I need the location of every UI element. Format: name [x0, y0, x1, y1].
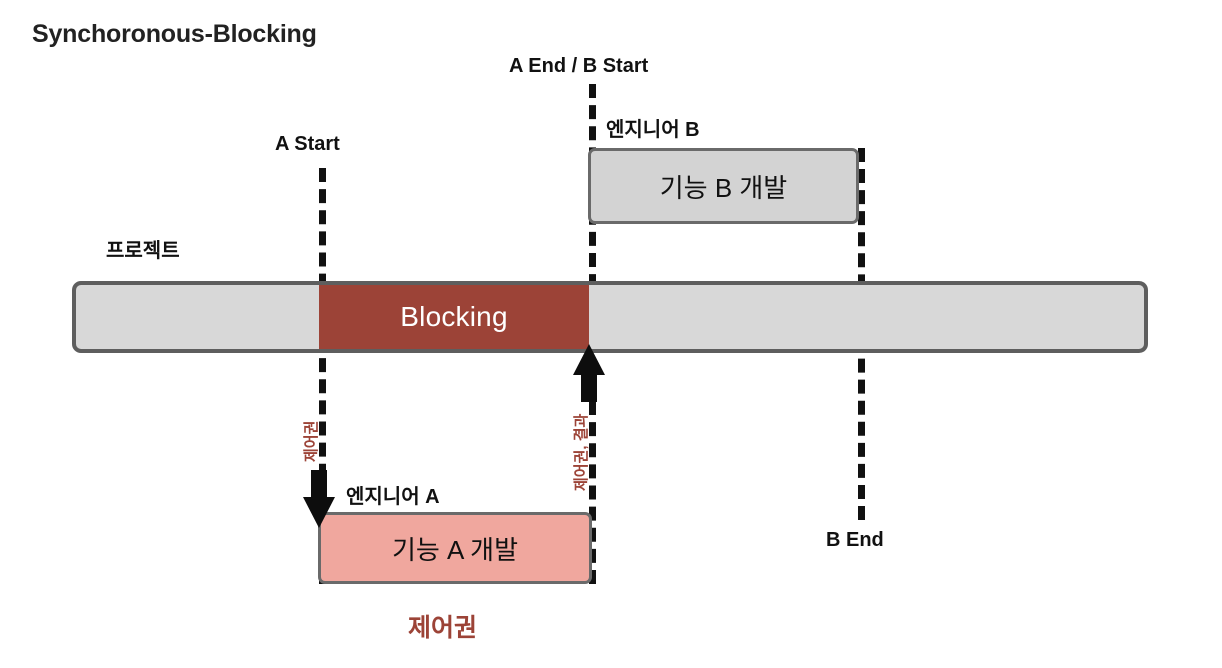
- page-title: Synchoronous-Blocking: [32, 20, 317, 49]
- engineer-a-caption: 엔지니어 A: [346, 480, 440, 509]
- tick-label-a-end-b-start: A End / B Start: [509, 55, 648, 78]
- blocking-region-label: Blocking: [400, 301, 507, 333]
- blocking-region: Blocking: [319, 281, 589, 353]
- task-box-engineer-b-label: 기능 B 개발: [660, 168, 787, 205]
- tick-label-b-end: B End: [826, 529, 884, 552]
- synchronous-blocking-diagram: Synchoronous-Blocking A Start A End / B …: [0, 0, 1222, 668]
- control-flow-down-label: 제어권: [300, 421, 321, 462]
- control-flow-up-label: 제어권, 결과: [570, 414, 591, 491]
- tick-label-a-start: A Start: [275, 133, 340, 156]
- engineer-b-caption: 엔지니어 B: [606, 113, 700, 142]
- task-box-engineer-a-label: 기능 A 개발: [392, 530, 518, 567]
- task-box-engineer-b: 기능 B 개발: [588, 148, 859, 224]
- project-timeline-bar: [72, 281, 1148, 353]
- project-caption: 프로젝트: [106, 234, 180, 263]
- control-flow-bottom-label: 제어권: [408, 608, 477, 644]
- task-box-engineer-a: 기능 A 개발: [318, 512, 592, 584]
